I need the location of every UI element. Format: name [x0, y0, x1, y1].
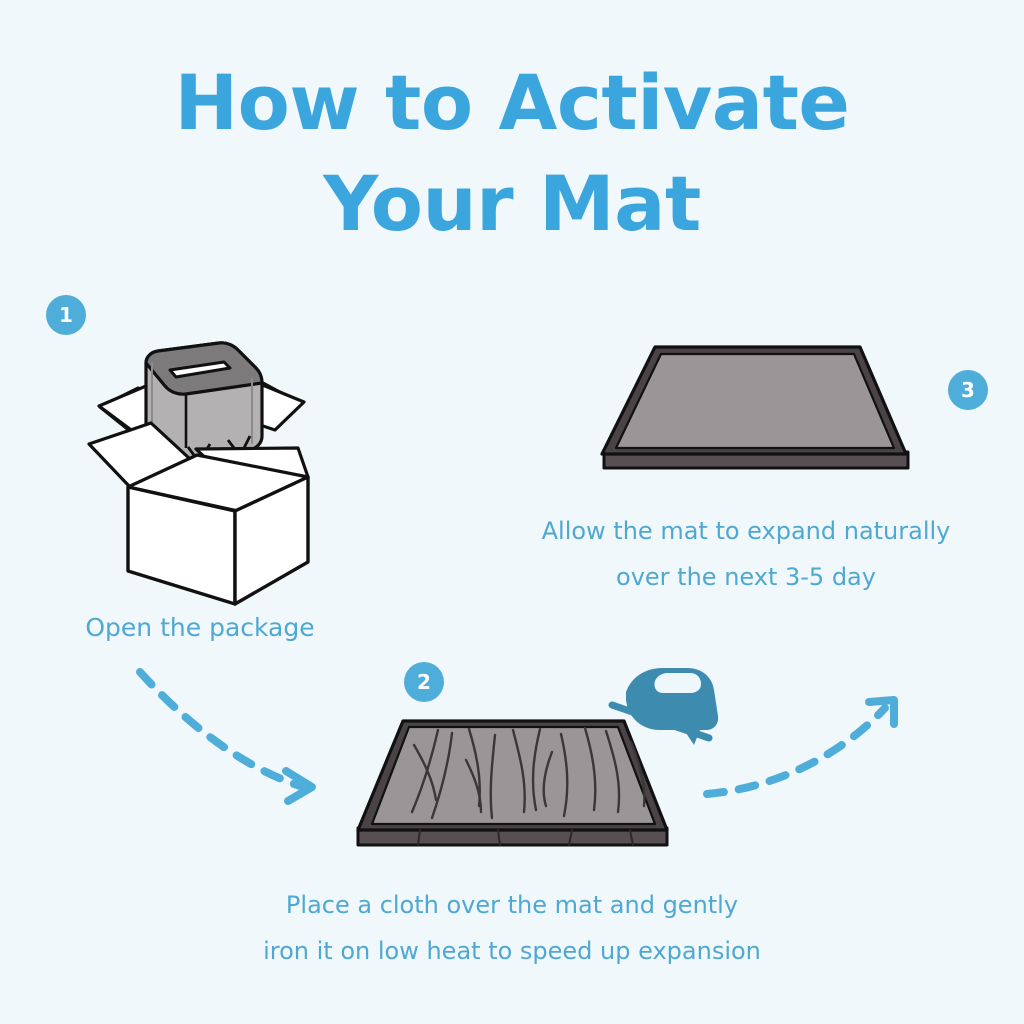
step-2-caption-line-2: iron it on low heat to speed up expansio…	[263, 937, 761, 965]
page-title-line-2: Your Mat	[0, 153, 1024, 254]
step-2-caption: Place a cloth over the mat and gently ir…	[152, 882, 872, 974]
arrow-step1-to-step2	[140, 672, 312, 801]
step-2-badge: 2	[404, 662, 444, 702]
iron-icon	[612, 668, 718, 745]
step-2-caption-line-1: Place a cloth over the mat and gently	[286, 891, 738, 919]
wrinkled-mat-icon	[358, 721, 667, 845]
step-1-caption: Open the package	[20, 605, 380, 651]
packed-mat-in-box	[146, 343, 262, 462]
step-3-badge: 3	[948, 370, 988, 410]
step-3-caption-line-1: Allow the mat to expand naturally	[542, 517, 951, 545]
step-1-caption-text: Open the package	[85, 613, 314, 642]
page-title-line-1: How to Activate	[0, 52, 1024, 153]
page-title: How to Activate Your Mat	[0, 52, 1024, 254]
flat-mat-icon	[602, 347, 908, 468]
infographic-page: How to Activate Your Mat	[0, 0, 1024, 1024]
step-1-badge: 1	[46, 295, 86, 335]
open-box-icon	[89, 343, 308, 604]
step-3-caption: Allow the mat to expand naturally over t…	[470, 508, 1022, 600]
arrow-step2-to-step3	[707, 700, 894, 794]
step-3-caption-line-2: over the next 3-5 day	[616, 563, 876, 591]
